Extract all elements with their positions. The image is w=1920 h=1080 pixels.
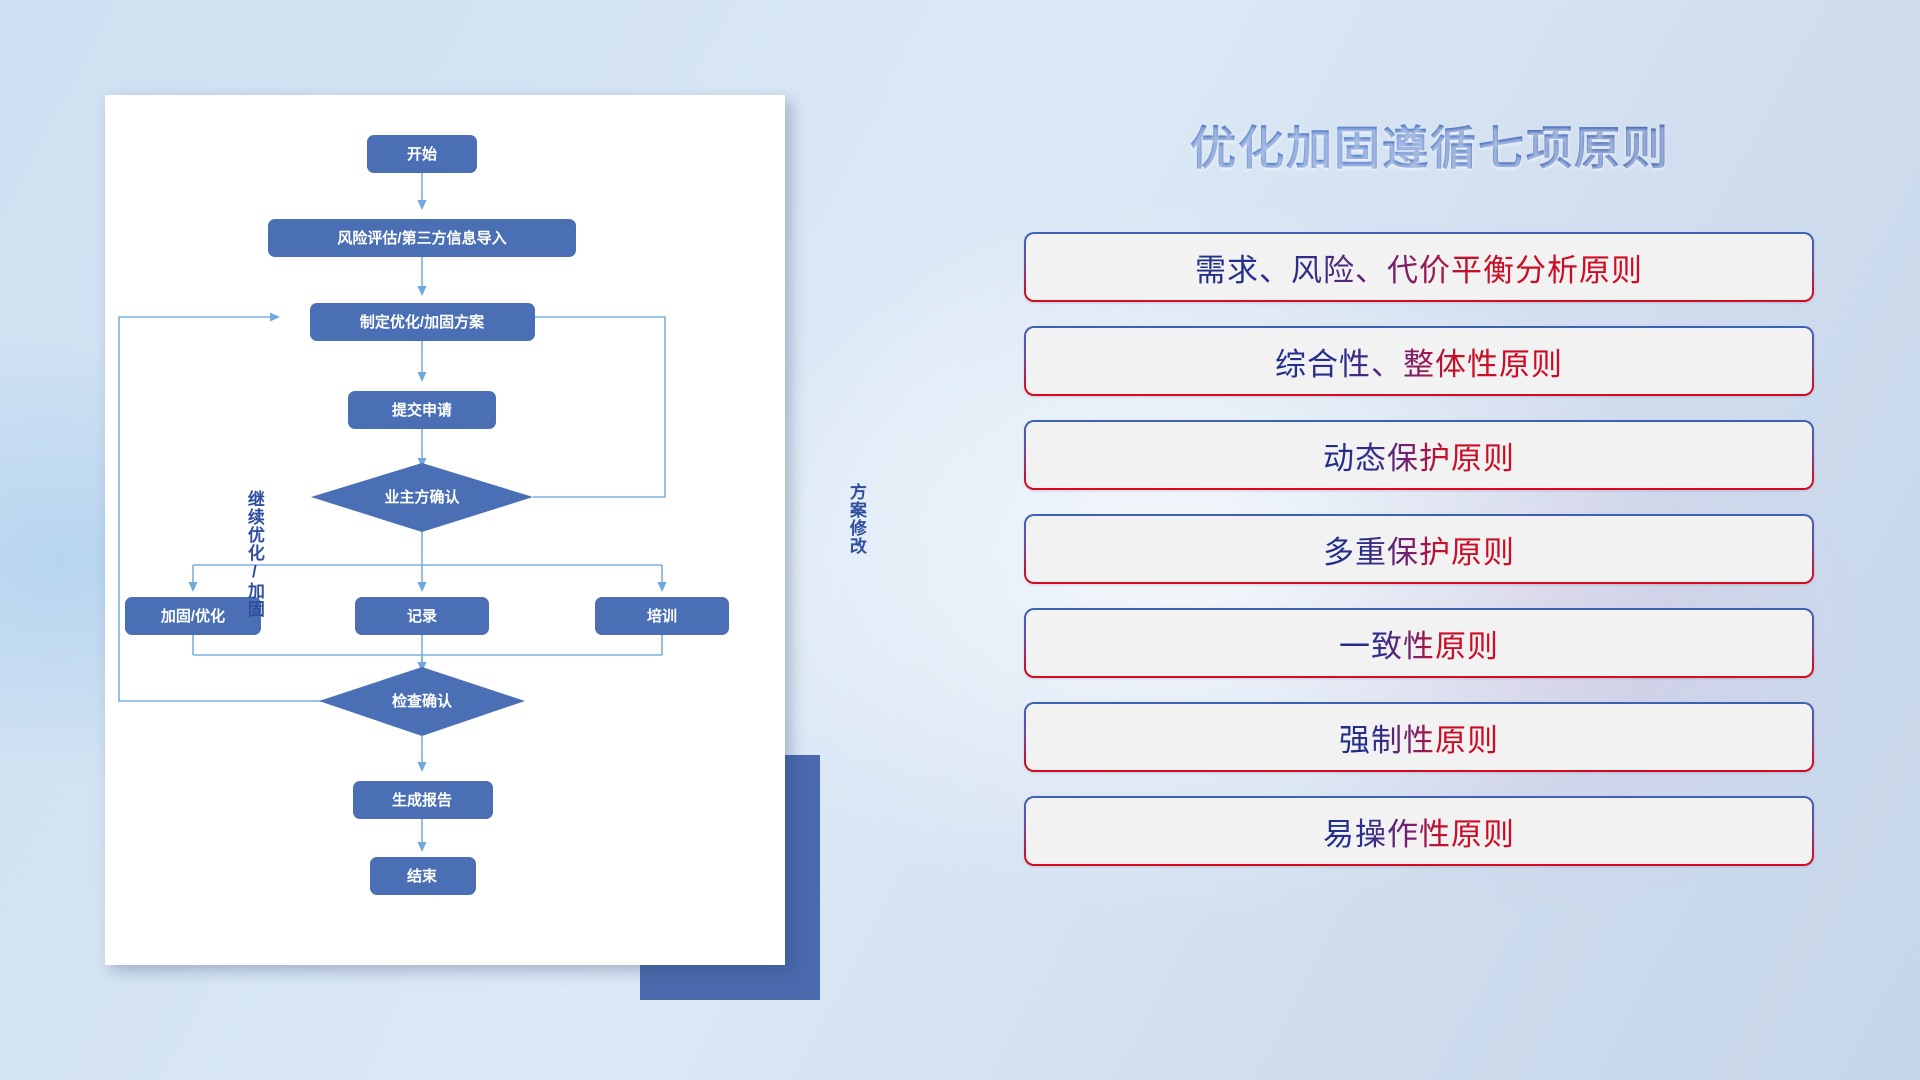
principle-item[interactable]: 需求、风险、代价平衡分析原则 bbox=[1024, 232, 1814, 302]
flow-node-record-label: 记录 bbox=[407, 608, 437, 625]
principle-card-body: 一致性原则 bbox=[1026, 610, 1812, 676]
flow-node-submit-label: 提交申请 bbox=[392, 401, 452, 419]
principle-card-body: 强制性原则 bbox=[1026, 704, 1812, 770]
principle-card-body: 需求、风险、代价平衡分析原则 bbox=[1026, 234, 1812, 300]
flow-node-reinforce-label: 加固/优化 bbox=[160, 607, 225, 625]
flowchart-card: 开始 风险评估/第三方信息导入 制定优化/加固方案 提交申请 业主方确认 加固/… bbox=[105, 95, 785, 965]
principle-card-body: 动态保护原则 bbox=[1026, 422, 1812, 488]
principle-item[interactable]: 强制性原则 bbox=[1024, 702, 1814, 772]
principle-item[interactable]: 一致性原则 bbox=[1024, 608, 1814, 678]
principle-item[interactable]: 动态保护原则 bbox=[1024, 420, 1814, 490]
flow-node-check-label: 检查确认 bbox=[392, 692, 453, 710]
principle-card-body: 易操作性原则 bbox=[1026, 798, 1812, 864]
principle-item[interactable]: 易操作性原则 bbox=[1024, 796, 1814, 866]
flow-node-training-label: 培训 bbox=[647, 607, 677, 625]
principle-label: 一致性原则 bbox=[1339, 621, 1499, 666]
principle-label: 综合性、整体性原则 bbox=[1275, 339, 1563, 384]
flow-edge-label-continue-optimize: 继续优化/加固 bbox=[245, 490, 263, 618]
principles-list: 需求、风险、代价平衡分析原则 综合性、整体性原则 动态保护原则 多重保护原则 一… bbox=[1024, 232, 1814, 890]
slide-canvas: 开始 风险评估/第三方信息导入 制定优化/加固方案 提交申请 业主方确认 加固/… bbox=[0, 0, 1920, 1080]
flow-node-owner-label: 业主方确认 bbox=[384, 488, 460, 506]
principle-label: 强制性原则 bbox=[1339, 715, 1499, 760]
flow-node-risk-label: 风险评估/第三方信息导入 bbox=[337, 229, 506, 247]
principle-label: 需求、风险、代价平衡分析原则 bbox=[1195, 245, 1643, 290]
principle-card-body: 多重保护原则 bbox=[1026, 516, 1812, 582]
principle-label: 易操作性原则 bbox=[1323, 809, 1515, 854]
flow-node-end-label: 结束 bbox=[407, 867, 438, 885]
principle-item[interactable]: 综合性、整体性原则 bbox=[1024, 326, 1814, 396]
flowchart-diagram: 开始 风险评估/第三方信息导入 制定优化/加固方案 提交申请 业主方确认 加固/… bbox=[105, 95, 785, 965]
flow-node-report-label: 生成报告 bbox=[392, 791, 452, 809]
principle-label: 多重保护原则 bbox=[1323, 527, 1515, 572]
principle-item[interactable]: 多重保护原则 bbox=[1024, 514, 1814, 584]
flow-node-start-label: 开始 bbox=[407, 145, 437, 163]
principle-card-body: 综合性、整体性原则 bbox=[1026, 328, 1812, 394]
page-title: 优化加固遵循七项原则 bbox=[1030, 112, 1830, 178]
principle-label: 动态保护原则 bbox=[1323, 433, 1515, 478]
flow-edge-label-plan-revision: 方案修改 bbox=[847, 483, 865, 555]
flow-node-plan-label: 制定优化/加固方案 bbox=[360, 313, 485, 331]
